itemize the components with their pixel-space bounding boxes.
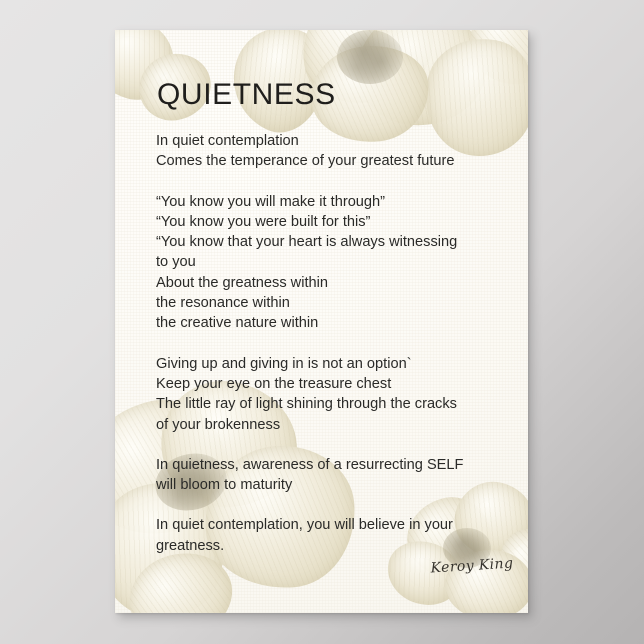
poem-line: the creative nature within [156,313,506,333]
poem-stanza: Giving up and giving in is not an option… [156,354,506,435]
poem-line: The little ray of light shining through … [156,394,506,414]
poem-line: Comes the temperance of your greatest fu… [156,151,506,171]
poem-line: In quiet contemplation [156,131,506,151]
poem-line: In quietness, awareness of a resurrectin… [156,455,506,475]
poem-line: Keep your eye on the treasure chest [156,374,506,394]
poster-artwork[interactable]: QUIETNESS In quiet contemplation Comes t… [115,30,528,613]
poem-line: of your brokenness [156,415,506,435]
poster-content: QUIETNESS In quiet contemplation Comes t… [115,30,528,613]
poem-line: About the greatness within [156,273,506,293]
page-title: QUIETNESS [157,78,336,112]
poem-stanza: In quietness, awareness of a resurrectin… [156,455,506,496]
poster-product-scene: QUIETNESS In quiet contemplation Comes t… [0,0,644,644]
poem-line: Giving up and giving in is not an option… [156,354,506,374]
poem-stanza: In quiet contemplation Comes the tempera… [156,131,506,172]
poem-body: In quiet contemplation Comes the tempera… [156,131,506,556]
artist-signature: Keroy King [422,555,523,577]
poem-line: will bloom to maturity [156,475,506,495]
poem-line: “You know you were built for this” [156,212,506,232]
poem-stanza: “You know you will make it through” “You… [156,192,506,334]
poem-line: “You know that your heart is always witn… [156,232,506,252]
poem-line: greatness. [156,536,506,556]
poem-stanza: In quiet contemplation, you will believe… [156,515,506,556]
poem-line: to you [156,252,506,272]
poem-line: In quiet contemplation, you will believe… [156,515,506,535]
poem-line: “You know you will make it through” [156,192,506,212]
poem-line: the resonance within [156,293,506,313]
